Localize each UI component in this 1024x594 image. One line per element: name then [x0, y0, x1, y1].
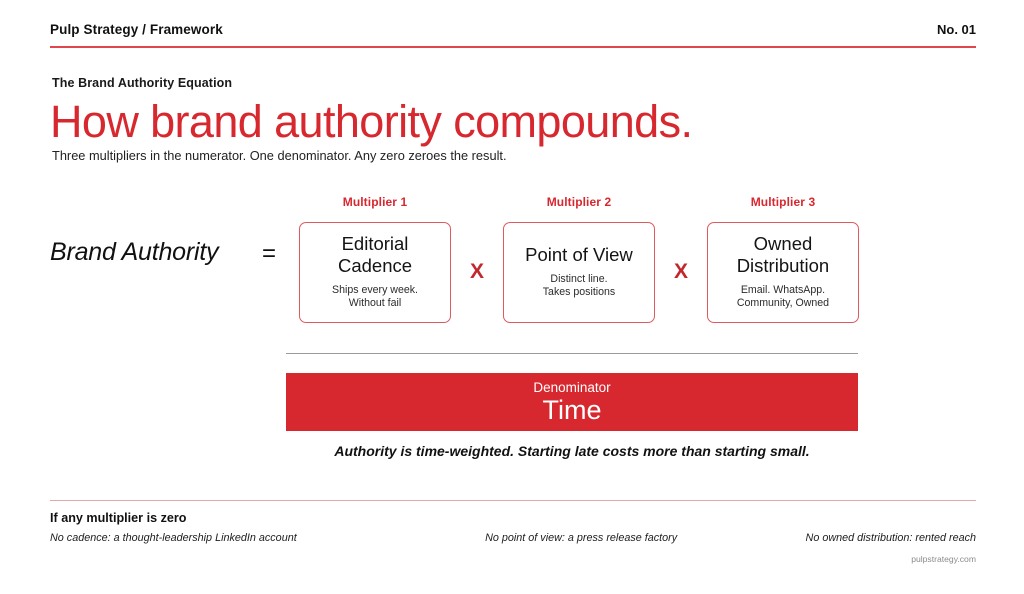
multiplier-label: Multiplier 2	[547, 195, 612, 209]
multiply-operator-1: X	[470, 260, 484, 284]
multiplier-card-1: Multiplier 1 Editorial Cadence Ships eve…	[299, 195, 451, 323]
footer-heading: If any multiplier is zero	[50, 511, 186, 525]
multiplier-title: Editorial Cadence	[306, 233, 444, 277]
denominator-label: Denominator	[533, 380, 610, 395]
multiplier-detail: Email. WhatsApp. Community, Owned	[737, 284, 829, 310]
denominator-value: Time	[543, 396, 602, 425]
equation-left-term: Brand Authority	[50, 238, 218, 267]
footer-note-group: No cadence: a thought-leadership LinkedI…	[50, 532, 976, 544]
header-divider	[50, 46, 976, 48]
multiplier-box: Editorial Cadence Ships every week. With…	[299, 222, 451, 323]
footer-note-1: No cadence: a thought-leadership LinkedI…	[50, 532, 297, 544]
multiplier-detail-line-1: Ships every week.	[332, 284, 418, 297]
multiplier-title: Point of View	[525, 244, 633, 266]
multiply-operator-2: X	[674, 260, 688, 284]
multiplier-title: Owned Distribution	[714, 233, 852, 277]
multiplier-box: Owned Distribution Email. WhatsApp. Comm…	[707, 222, 859, 323]
multiplier-detail-line-1: Email. WhatsApp.	[737, 284, 829, 297]
site-url: pulpstrategy.com	[911, 554, 976, 564]
denominator-caption: Authority is time-weighted. Starting lat…	[286, 443, 858, 459]
footer-note-2: No point of view: a press release factor…	[485, 532, 677, 544]
multiplier-detail-line-2: Community, Owned	[737, 297, 829, 310]
multiplier-detail-line-1: Distinct line.	[543, 273, 615, 286]
multiplier-detail: Ships every week. Without fail	[332, 284, 418, 310]
brand-label: Pulp Strategy / Framework	[50, 22, 223, 37]
page-subtitle: Three multipliers in the numerator. One …	[52, 148, 507, 163]
footer-note-3: No owned distribution: rented reach	[806, 532, 976, 544]
multiplier-card-3: Multiplier 3 Owned Distribution Email. W…	[707, 195, 859, 323]
slide-header: Pulp Strategy / Framework No. 01	[50, 22, 976, 37]
multiplier-detail: Distinct line. Takes positions	[543, 273, 615, 299]
page-title: How brand authority compounds.	[50, 96, 692, 148]
denominator-bar: Denominator Time	[286, 373, 858, 431]
numerator-group: Multiplier 1 Editorial Cadence Ships eve…	[299, 195, 859, 323]
eyebrow-label: The Brand Authority Equation	[52, 76, 232, 90]
fraction-divider	[286, 353, 858, 354]
multiplier-label: Multiplier 3	[751, 195, 816, 209]
multiplier-box: Point of View Distinct line. Takes posit…	[503, 222, 655, 323]
slide-canvas: Pulp Strategy / Framework No. 01 The Bra…	[0, 0, 1024, 594]
slide-number: No. 01	[937, 22, 976, 37]
multiplier-card-2: Multiplier 2 Point of View Distinct line…	[503, 195, 655, 323]
footer-divider	[50, 500, 976, 501]
multiplier-label: Multiplier 1	[343, 195, 408, 209]
multiplier-detail-line-2: Without fail	[332, 297, 418, 310]
equals-sign: =	[262, 240, 276, 268]
multiplier-detail-line-2: Takes positions	[543, 286, 615, 299]
